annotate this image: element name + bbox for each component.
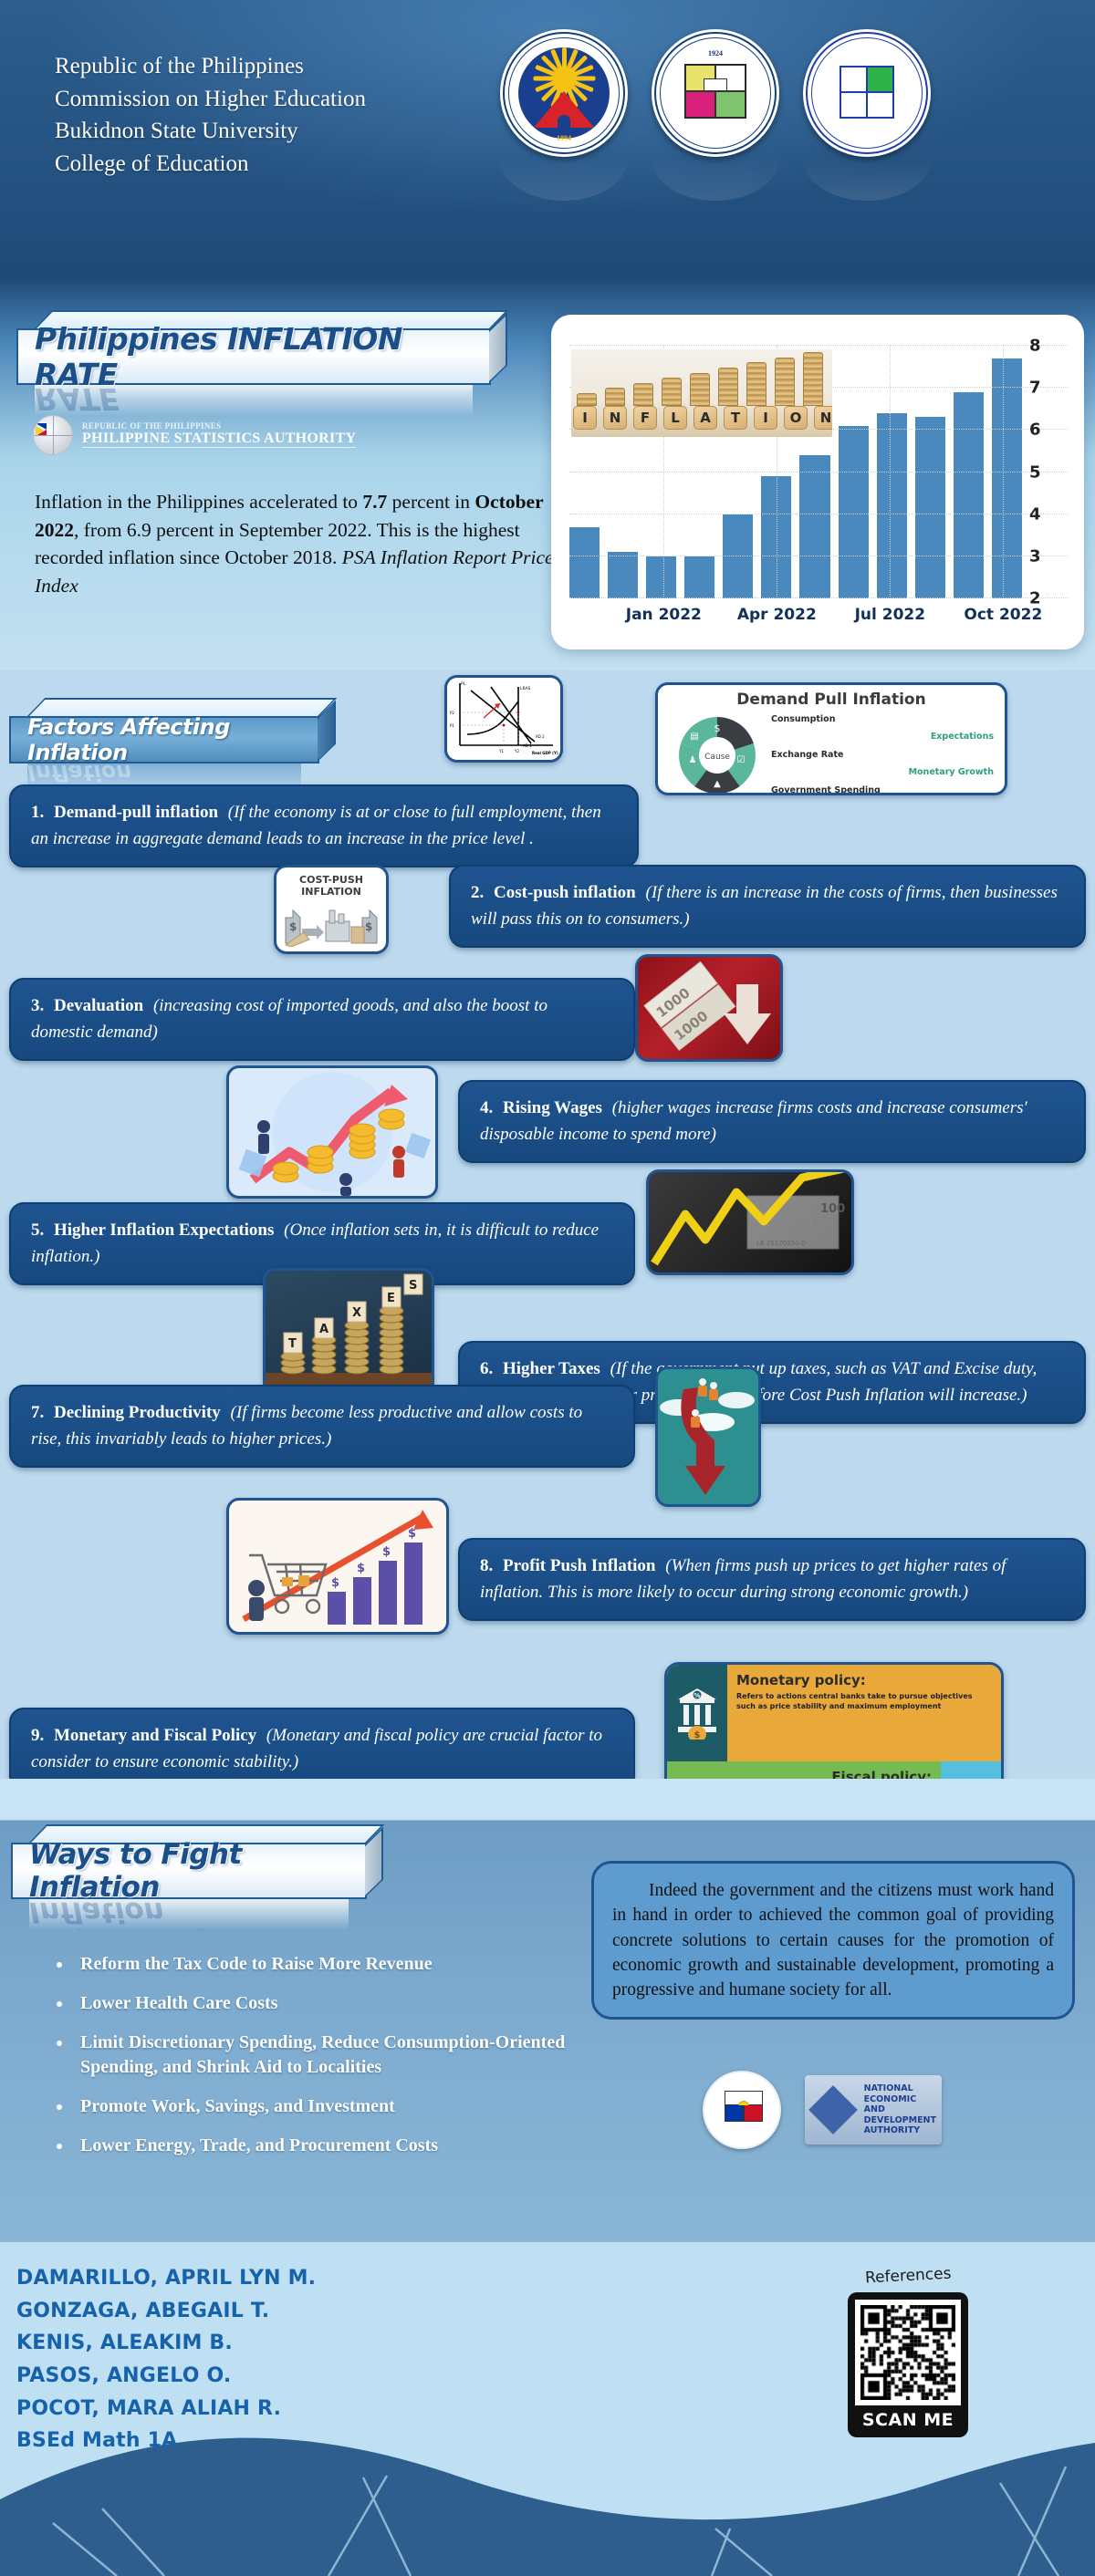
conclusion-box: Indeed the government and the citizens m… [591,1861,1075,2020]
factor-3-name: Devaluation [54,996,143,1015]
college-of-education-seal-icon [803,29,931,157]
ways-title-reflection: Ways to Fight Inflation [29,1899,349,1930]
demand-pull-wheel-icon: Cause $ ☑ ▲ ♟ ▤ [663,713,771,795]
down-arrow-people-icon [658,1369,758,1504]
chart-x-label-jan-2022: Jan 2022 [626,606,702,624]
chart-bar-sep-2022 [954,392,984,598]
svg-text:E: E [387,1292,395,1305]
factor-8-box: 8. Profit Push Inflation (When firms pus… [458,1538,1086,1621]
svg-text:Cause: Cause [704,753,730,762]
monetary-policy-heading: Monetary policy: [736,1672,992,1688]
psa-republic-line: REPUBLIC OF THE PHILIPPINES [82,422,356,431]
letter-tile: N [603,406,627,430]
letter-tile: T [724,406,747,430]
letter-tile: I [754,406,777,430]
factor-8-name: Profit Push Inflation [503,1556,656,1575]
chart-bar-nov-2021 [569,527,600,598]
demand-pull-inflation-diagram: Demand Pull Inflation Cause $ ☑ ▲ ♟ ▤ Co… [655,682,1007,795]
letter-tile: O [784,406,808,430]
chart-y-tick-4: 4 [1029,504,1066,524]
neda-seal-icon: NATIONALECONOMIC ANDDEVELOPMENTAUTHORITY [805,2075,942,2145]
factor-4-num: 4. [480,1098,493,1117]
ways-title: Ways to Fight Inflation [29,1838,349,1904]
author-name: PASOS, ANGELO O. [16,2360,316,2393]
monetary-policy-body: Refers to actions central banks take to … [736,1692,992,1712]
scan-me-label: SCAN ME [855,2405,961,2437]
demand-pull-item-monetary-growth: Monetary Growth [771,763,999,781]
republika-ng-pilipinas-seal-icon [703,2071,781,2149]
demand-pull-item-consumption: Consumption [771,711,999,728]
factor-3-box: 3. Devaluation (increasing cost of impor… [9,978,635,1061]
way-list-item: Reform the Tax Code to Raise More Revenu… [73,1952,582,1977]
chart-x-label-oct-2022: Oct 2022 [964,606,1042,624]
svg-text:AD 1: AD 1 [523,743,532,748]
author-list: DAMARILLO, APRIL LYN M.GONZAGA, ABEGAIL … [16,2262,316,2457]
factor-1-name: Demand-pull inflation [54,803,218,822]
chart-x-axis-labels: Jan 2022Apr 2022Jul 2022Oct 2022 [569,606,1022,629]
chart-y-tick-7: 7 [1029,379,1066,398]
factors-title: Factors Affecting Inflation [27,714,301,765]
factor-9-name: Monetary and Fiscal Policy [54,1726,256,1745]
bsu-seal-wrap: 1924 [652,29,779,201]
ched-seal-icon: 1994 [500,29,628,157]
bukidnon-state-university-seal-icon: 1924 [652,29,779,157]
svg-text:A: A [319,1323,328,1336]
svg-text:$: $ [365,920,372,933]
peso-devaluation-image: 1000 1000 [635,954,783,1062]
chart-y-tick-8: 8 [1029,337,1066,356]
chart-bar-jun-2022 [839,426,869,598]
coin-stack [662,378,682,406]
svg-text:S: S [409,1279,417,1293]
svg-text:$: $ [694,1730,701,1740]
svg-text:▤: ▤ [690,732,698,742]
section1-title-reflection: Philippines INFLATION RATE [35,385,473,416]
chart-x-label-apr-2022: Apr 2022 [737,606,817,624]
references-block: References SCAN ME [830,2267,985,2437]
svg-text:Real GDP (Y): Real GDP (Y) [532,751,558,755]
inflation-chart-card: 2345678 INFLATION Jan 2022Apr 2022Jul 20… [551,315,1084,649]
factor-7-box: 7. Declining Productivity (If firms beco… [9,1385,635,1468]
cost-push-factory-icon: $ $ [276,898,386,947]
bsu-year: 1924 [652,49,779,57]
header-line-2: Commission on Higher Education [55,83,366,116]
chart-vgrid [890,346,891,598]
chart-bar-jul-2022 [877,413,907,598]
author-name: KENIS, ALEAKIM B. [16,2327,316,2360]
psa-globe-icon [33,415,73,455]
factor-4-name: Rising Wages [503,1098,602,1117]
cost-push-inflation-image: COST-PUSH INFLATION $ $ [274,865,389,954]
chart-gridline [569,345,1068,346]
higher-taxes-image: T A X E S [263,1268,434,1397]
inflation-summary-text: Inflation in the Philippines accelerated… [35,488,573,599]
factor-5-num: 5. [31,1220,44,1240]
factor-3-num: 3. [31,996,44,1015]
declining-productivity-image [655,1366,761,1507]
chart-bar-jan-2022 [646,556,676,598]
svg-text:☑: ☑ [737,755,746,765]
svg-text:AD 2: AD 2 [536,734,545,739]
way-list-item: Limit Discretionary Spending, Reduce Con… [73,2031,582,2080]
chart-bar-aug-2022 [915,417,945,598]
letter-tile: N [814,406,832,430]
letter-tile: A [693,406,717,430]
lede-bold-rate: 7.7 [362,491,387,513]
way-list-item: Lower Health Care Costs [73,1991,582,2016]
ched-seal-wrap: 1994 [500,29,628,201]
header-band: Republic of the Philippines Commission o… [0,0,1095,278]
factor-6-num: 6. [480,1359,493,1378]
chart-y-tick-5: 5 [1029,462,1066,482]
author-name: GONZAGA, ABEGAIL T. [16,2295,316,2328]
author-name: BSEd Math 1A [16,2425,316,2457]
chart-bar-may-2022 [799,455,829,598]
factor-4-box: 4. Rising Wages (higher wages increase f… [458,1080,1086,1163]
header-line-4: College of Education [55,148,366,181]
demand-pull-label-list: ConsumptionExpectationsExchange RateMone… [771,711,999,795]
svg-text:%: % [693,1692,700,1699]
coin-stack [633,383,653,406]
svg-text:P1: P1 [450,723,454,728]
bank-building-icon: % $ [676,1687,718,1740]
letter-tile: L [663,406,687,430]
header-line-1: Republic of the Philippines [55,50,366,83]
coin-stack [775,358,795,406]
chart-gridline [569,472,1068,473]
author-name: POCOT, MARA ALIAH R. [16,2393,316,2425]
infographic-poster: Republic of the Philippines Commission o… [0,0,1095,2576]
svg-text:X: X [352,1306,361,1320]
chart-x-label-jul-2022: Jul 2022 [855,606,926,624]
factor-7-name: Declining Productivity [54,1403,221,1422]
ways-title-box: Ways to Fight Inflation Ways to Fight In… [11,1824,367,1899]
factor-8-num: 8. [480,1556,493,1575]
chart-bar-dec-2021 [608,552,638,598]
rising-wages-image [226,1065,438,1199]
factor-2-num: 2. [471,883,484,902]
svg-text:LRAS: LRAS [520,686,531,691]
factor-9-num: 9. [31,1726,44,1745]
cart-growth-icon: $$$$ [229,1501,446,1632]
chart-bar-feb-2022 [684,556,714,598]
svg-text:Y1: Y1 [498,749,504,753]
factor-2-name: Cost-push inflation [494,883,636,902]
svg-text:$: $ [331,1576,339,1590]
taxes-coin-stacks-icon: T A X E S [266,1271,432,1395]
svg-text:$: $ [289,920,297,933]
header-line-3: Bukidnon State University [55,115,366,148]
demand-pull-item-exchange-rate: Exchange Rate [771,746,999,763]
bank-icon: % $ [667,1665,727,1761]
chart-vgrid [1003,346,1004,598]
qr-card[interactable]: SCAN ME [848,2292,968,2437]
svg-text:$: $ [714,722,721,734]
factors-title-box: Factors Affecting Inflation Factors Affe… [9,698,319,763]
coin-stack [718,368,738,406]
chart-gridline [569,514,1068,514]
svg-text:▲: ▲ [714,779,721,789]
seal-row: 1994 1924 [500,29,931,201]
qr-code-image[interactable] [855,2300,961,2405]
rising-wages-chart-icon [229,1068,435,1196]
dollar-zigzag-icon: 100 LB 25170250 D [649,1172,851,1272]
coin-stack [690,373,710,406]
inflation-word-tiles: INFLATION [573,406,832,430]
coin-stack [803,352,823,406]
chart-bar-oct-2022 [992,358,1022,598]
coin-stack [746,362,766,406]
cost-push-image-caption: COST-PUSH INFLATION [276,867,386,898]
inflation-rate-title-box: Philippines INFLATION RATE Philippines I… [16,310,491,385]
coe-seal-wrap [803,29,931,201]
peso-arrow-down-icon: 1000 1000 [638,957,780,1059]
lede-part-1: Inflation in the Philippines accelerated… [35,491,362,513]
demand-pull-item-government-spending: Government Spending [771,782,999,795]
demand-pull-title: Demand Pull Inflation [658,691,1005,709]
svg-text:♟: ♟ [689,755,697,765]
factor-1-num: 1. [31,803,44,822]
svg-text:LB 25170250 D: LB 25170250 D [756,1240,806,1247]
ad-as-diagram: PL LRAS P2 P1 AD 2 AD 1 Y1 Y2 Real GDP (… [444,675,563,763]
coin-stack [605,388,625,406]
factor-6-name: Higher Taxes [503,1359,600,1378]
letter-tile: I [573,406,597,430]
demand-pull-item-expectations: Expectations [771,728,999,745]
svg-text:Y2: Y2 [514,749,519,753]
ad-as-chart-svg: PL LRAS P2 P1 AD 2 AD 1 Y1 Y2 Real GDP (… [447,678,560,760]
factor-5-name: Higher Inflation Expectations [54,1220,274,1240]
way-list-item: Promote Work, Savings, and Investment [73,2094,582,2119]
svg-text:P2: P2 [450,711,454,715]
chart-y-tick-3: 3 [1029,546,1066,566]
author-name: DAMARILLO, APRIL LYN M. [16,2262,316,2295]
factor-1-box: 1. Demand-pull inflation (If the economy… [9,784,639,867]
government-seal-row: NATIONALECONOMIC ANDDEVELOPMENTAUTHORITY [703,2071,942,2149]
chart-gridline [569,556,1068,556]
neda-label: NATIONALECONOMIC ANDDEVELOPMENTAUTHORITY [864,2083,936,2136]
svg-text:T: T [288,1337,297,1351]
chart-gridline [569,597,1068,598]
coin-stack [577,393,597,406]
svg-text:$: $ [382,1545,391,1559]
way-list-item: Lower Energy, Trade, and Procurement Cos… [73,2134,582,2158]
chart-y-tick-6: 6 [1029,421,1066,440]
psa-name-line: PHILIPPINE STATISTICS AUTHORITY [82,431,356,448]
svg-text:100: 100 [820,1202,845,1216]
profit-push-inflation-image: $$$$ [226,1498,449,1635]
ched-year: 1994 [500,134,628,142]
letter-tile: F [633,406,657,430]
factor-2-box: 2. Cost-push inflation (If there is an i… [449,865,1086,948]
references-label: References [864,2265,951,2288]
psa-logo: REPUBLIC OF THE PHILIPPINES PHILIPPINE S… [33,415,356,455]
svg-text:$: $ [357,1562,365,1575]
inflation-coins-photo: INFLATION [571,349,832,437]
section1-title: Philippines INFLATION RATE [35,321,473,392]
ways-to-fight-list: Reform the Tax Code to Raise More Revenu… [53,1952,582,2173]
lede-part-2: percent in [387,491,474,513]
svg-text:PL: PL [461,681,466,687]
institution-heading: Republic of the Philippines Commission o… [55,50,366,180]
factor-7-num: 7. [31,1403,44,1422]
inflation-expectations-image: 100 LB 25170250 D [646,1169,854,1275]
